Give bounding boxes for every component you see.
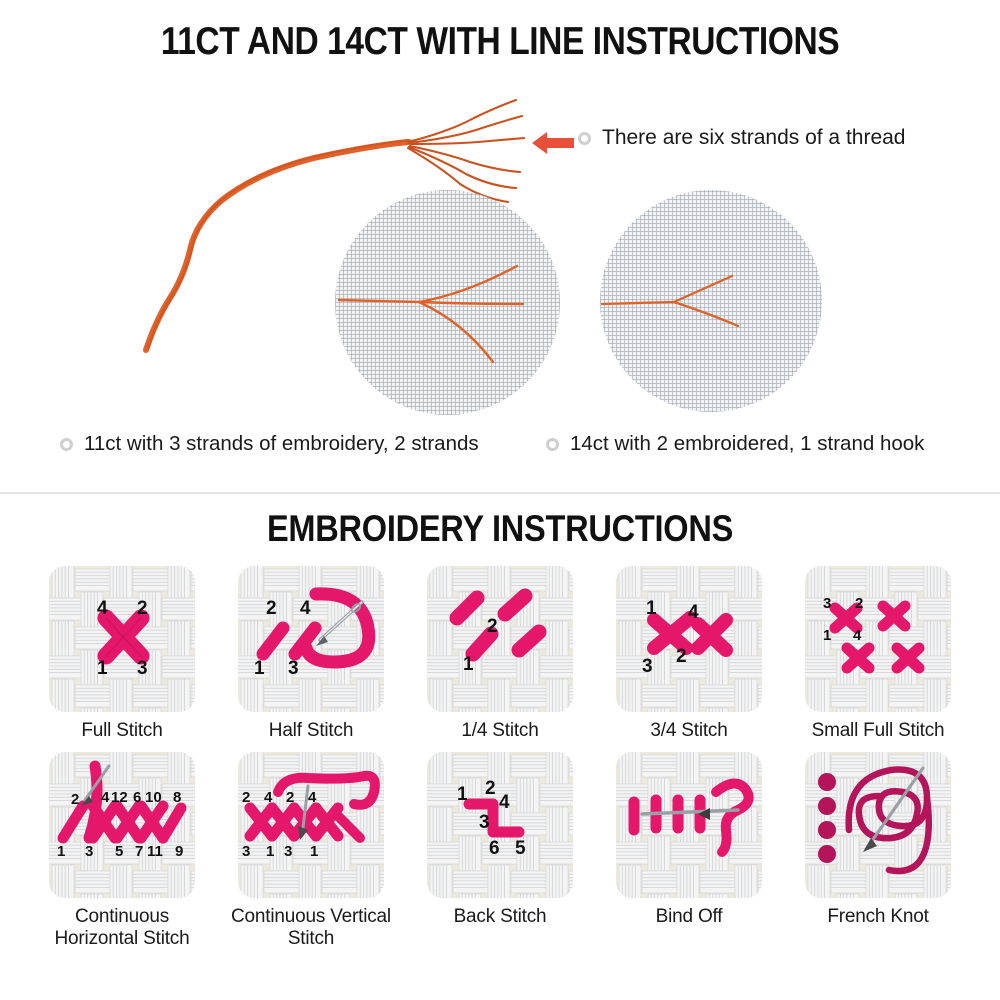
stitch-label: Half Stitch	[269, 720, 353, 742]
stitch-cell-french-knot: French Knot	[793, 752, 963, 950]
stitch-cell-small-full-stitch: 3 2 1 4 Small Full Stitch	[793, 566, 963, 742]
section-title: EMBROIDERY INSTRUCTIONS	[60, 508, 940, 550]
stitch-number: 7	[135, 843, 143, 860]
stitch-number: 3	[479, 812, 490, 833]
stitch-cell-three-quarter-stitch: 1 4 2 3 3/4 Stitch	[604, 566, 774, 742]
stitch-number: 2	[485, 778, 496, 799]
three-quarter-stitch-diagram: 1 4 2 3	[616, 566, 762, 712]
stitch-cell-back-stitch: 1 2 4 3 6 5 Back Stitch	[415, 752, 585, 950]
knot-dots	[818, 773, 836, 863]
bind-off-diagram	[616, 752, 762, 898]
ring-bullet-icon	[60, 438, 73, 451]
stitch-number: 1	[57, 843, 65, 860]
stitch-number: 3	[242, 843, 250, 860]
14ct-mesh-circle	[600, 190, 822, 412]
strand-note: There are six strands of a thread	[578, 126, 906, 150]
stitch-cell-quarter-stitch: 2 1 1/4 Stitch	[415, 566, 585, 742]
stitch-number: 3	[823, 595, 831, 612]
stitch-number: 4	[853, 627, 862, 644]
stitch-number: 6	[133, 789, 141, 806]
stitch-number: 2	[676, 646, 687, 667]
caption-14ct: 14ct with 2 embroidered, 1 strand hook	[546, 432, 924, 456]
stitch-number: 4	[688, 602, 699, 623]
stitch-number: 1	[823, 627, 831, 644]
stitch-number: 1	[97, 658, 108, 679]
stitch-number: 4	[308, 789, 317, 806]
stitch-cell-continuous-vertical-stitch: 2 4 2 4 3 1 3 1 Continuous Vertical Stit…	[226, 752, 396, 950]
stitch-number: 1	[310, 843, 318, 860]
stitch-number: 12	[111, 789, 128, 806]
stitch-label: French Knot	[827, 906, 928, 928]
stitch-number: 1	[646, 598, 657, 619]
stitch-number: 3	[288, 658, 299, 679]
stitch-number: 5	[115, 843, 123, 860]
stitch-number: 4	[300, 598, 311, 619]
stitch-number: 5	[515, 838, 526, 859]
stitch-label: 3/4 Stitch	[650, 720, 727, 742]
stitch-number: 2	[286, 789, 294, 806]
caption-11ct-label: 11ct with 3 strands of embroidery, 2 str…	[84, 432, 479, 456]
strand-note-label: There are six strands of a thread	[602, 126, 906, 150]
stitch-label: Full Stitch	[81, 720, 162, 742]
stitch-number: 9	[175, 843, 183, 860]
11ct-mesh-circle	[335, 190, 560, 415]
thread-instructions-section: 11CT AND 14CT WITH LINE INSTRUCTIONS	[0, 0, 1000, 494]
stitch-number: 2	[266, 598, 277, 619]
arrow-left-icon	[530, 128, 576, 158]
back-stitch-diagram: 1 2 4 3 6 5	[427, 752, 573, 898]
continuous-vertical-stitch-diagram: 2 4 2 4 3 1 3 1	[238, 752, 384, 898]
stitch-row: 2 4 12 6 10 8 1 3 5 7 11 9	[0, 752, 1000, 950]
half-stitch-diagram: 2 4 1 3	[238, 566, 384, 712]
stitch-number: 1	[457, 784, 468, 805]
small-full-stitch-diagram: 3 2 1 4	[805, 566, 951, 712]
stitch-cell-half-stitch: 2 4 1 3 Half Stitch	[226, 566, 396, 742]
caption-14ct-label: 14ct with 2 embroidered, 1 strand hook	[570, 432, 924, 456]
stitch-number: 4	[264, 789, 273, 806]
stitch-cell-full-stitch: 4 2 1 3 Full Stitch	[37, 566, 207, 742]
ring-bullet-icon	[578, 132, 591, 145]
stitch-number: 2	[487, 616, 498, 637]
full-stitch-diagram: 4 2 1 3	[49, 566, 195, 712]
quarter-stitch-diagram: 2 1	[427, 566, 573, 712]
stitch-cell-bind-off: Bind Off	[604, 752, 774, 950]
stitch-number: 3	[137, 658, 148, 679]
stitch-cell-continuous-horizontal-stitch: 2 4 12 6 10 8 1 3 5 7 11 9	[37, 752, 207, 950]
stitch-number: 4	[97, 598, 108, 619]
stitch-number: 3	[284, 843, 292, 860]
stitch-number: 4	[499, 792, 510, 813]
stitch-number: 8	[173, 789, 181, 806]
stitch-number: 6	[489, 838, 500, 859]
stitch-label: Bind Off	[656, 906, 723, 928]
stitch-number: 11	[147, 843, 163, 860]
stitch-number: 2	[855, 595, 863, 612]
stitch-number: 3	[642, 656, 653, 677]
caption-11ct: 11ct with 3 strands of embroidery, 2 str…	[60, 432, 479, 456]
stitch-label: Small Full Stitch	[812, 720, 945, 742]
needle-icon	[316, 602, 362, 646]
stitch-number: 1	[463, 654, 474, 675]
stitch-label: Back Stitch	[454, 906, 547, 928]
stitch-label: Continuous Vertical Stitch	[226, 906, 396, 950]
stitch-row: 4 2 1 3 Full Stitch	[0, 566, 1000, 742]
stitch-number: 2	[137, 598, 148, 619]
continuous-horizontal-stitch-diagram: 2 4 12 6 10 8 1 3 5 7 11 9	[49, 752, 195, 898]
embroidery-instructions-section: EMBROIDERY INSTRUCTIONS	[0, 494, 1000, 1000]
circle-captions: 11ct with 3 strands of embroidery, 2 str…	[0, 432, 1000, 462]
french-knot-diagram	[805, 752, 951, 898]
stitch-number: 2	[242, 789, 250, 806]
infographic-page: 11CT AND 14CT WITH LINE INSTRUCTIONS	[0, 0, 1000, 1000]
page-title: 11CT AND 14CT WITH LINE INSTRUCTIONS	[70, 20, 930, 64]
stitch-number: 1	[266, 843, 274, 860]
stitch-label: Continuous Horizontal Stitch	[37, 906, 207, 950]
stitch-number: 4	[101, 789, 110, 806]
stitch-number: 1	[254, 658, 265, 679]
stitch-number: 3	[85, 843, 93, 860]
ring-bullet-icon	[546, 438, 559, 451]
stitch-number: 10	[145, 789, 162, 806]
stitch-number: 2	[71, 791, 79, 808]
stitch-grid: 4 2 1 3 Full Stitch	[0, 566, 1000, 950]
stitch-label: 1/4 Stitch	[461, 720, 538, 742]
